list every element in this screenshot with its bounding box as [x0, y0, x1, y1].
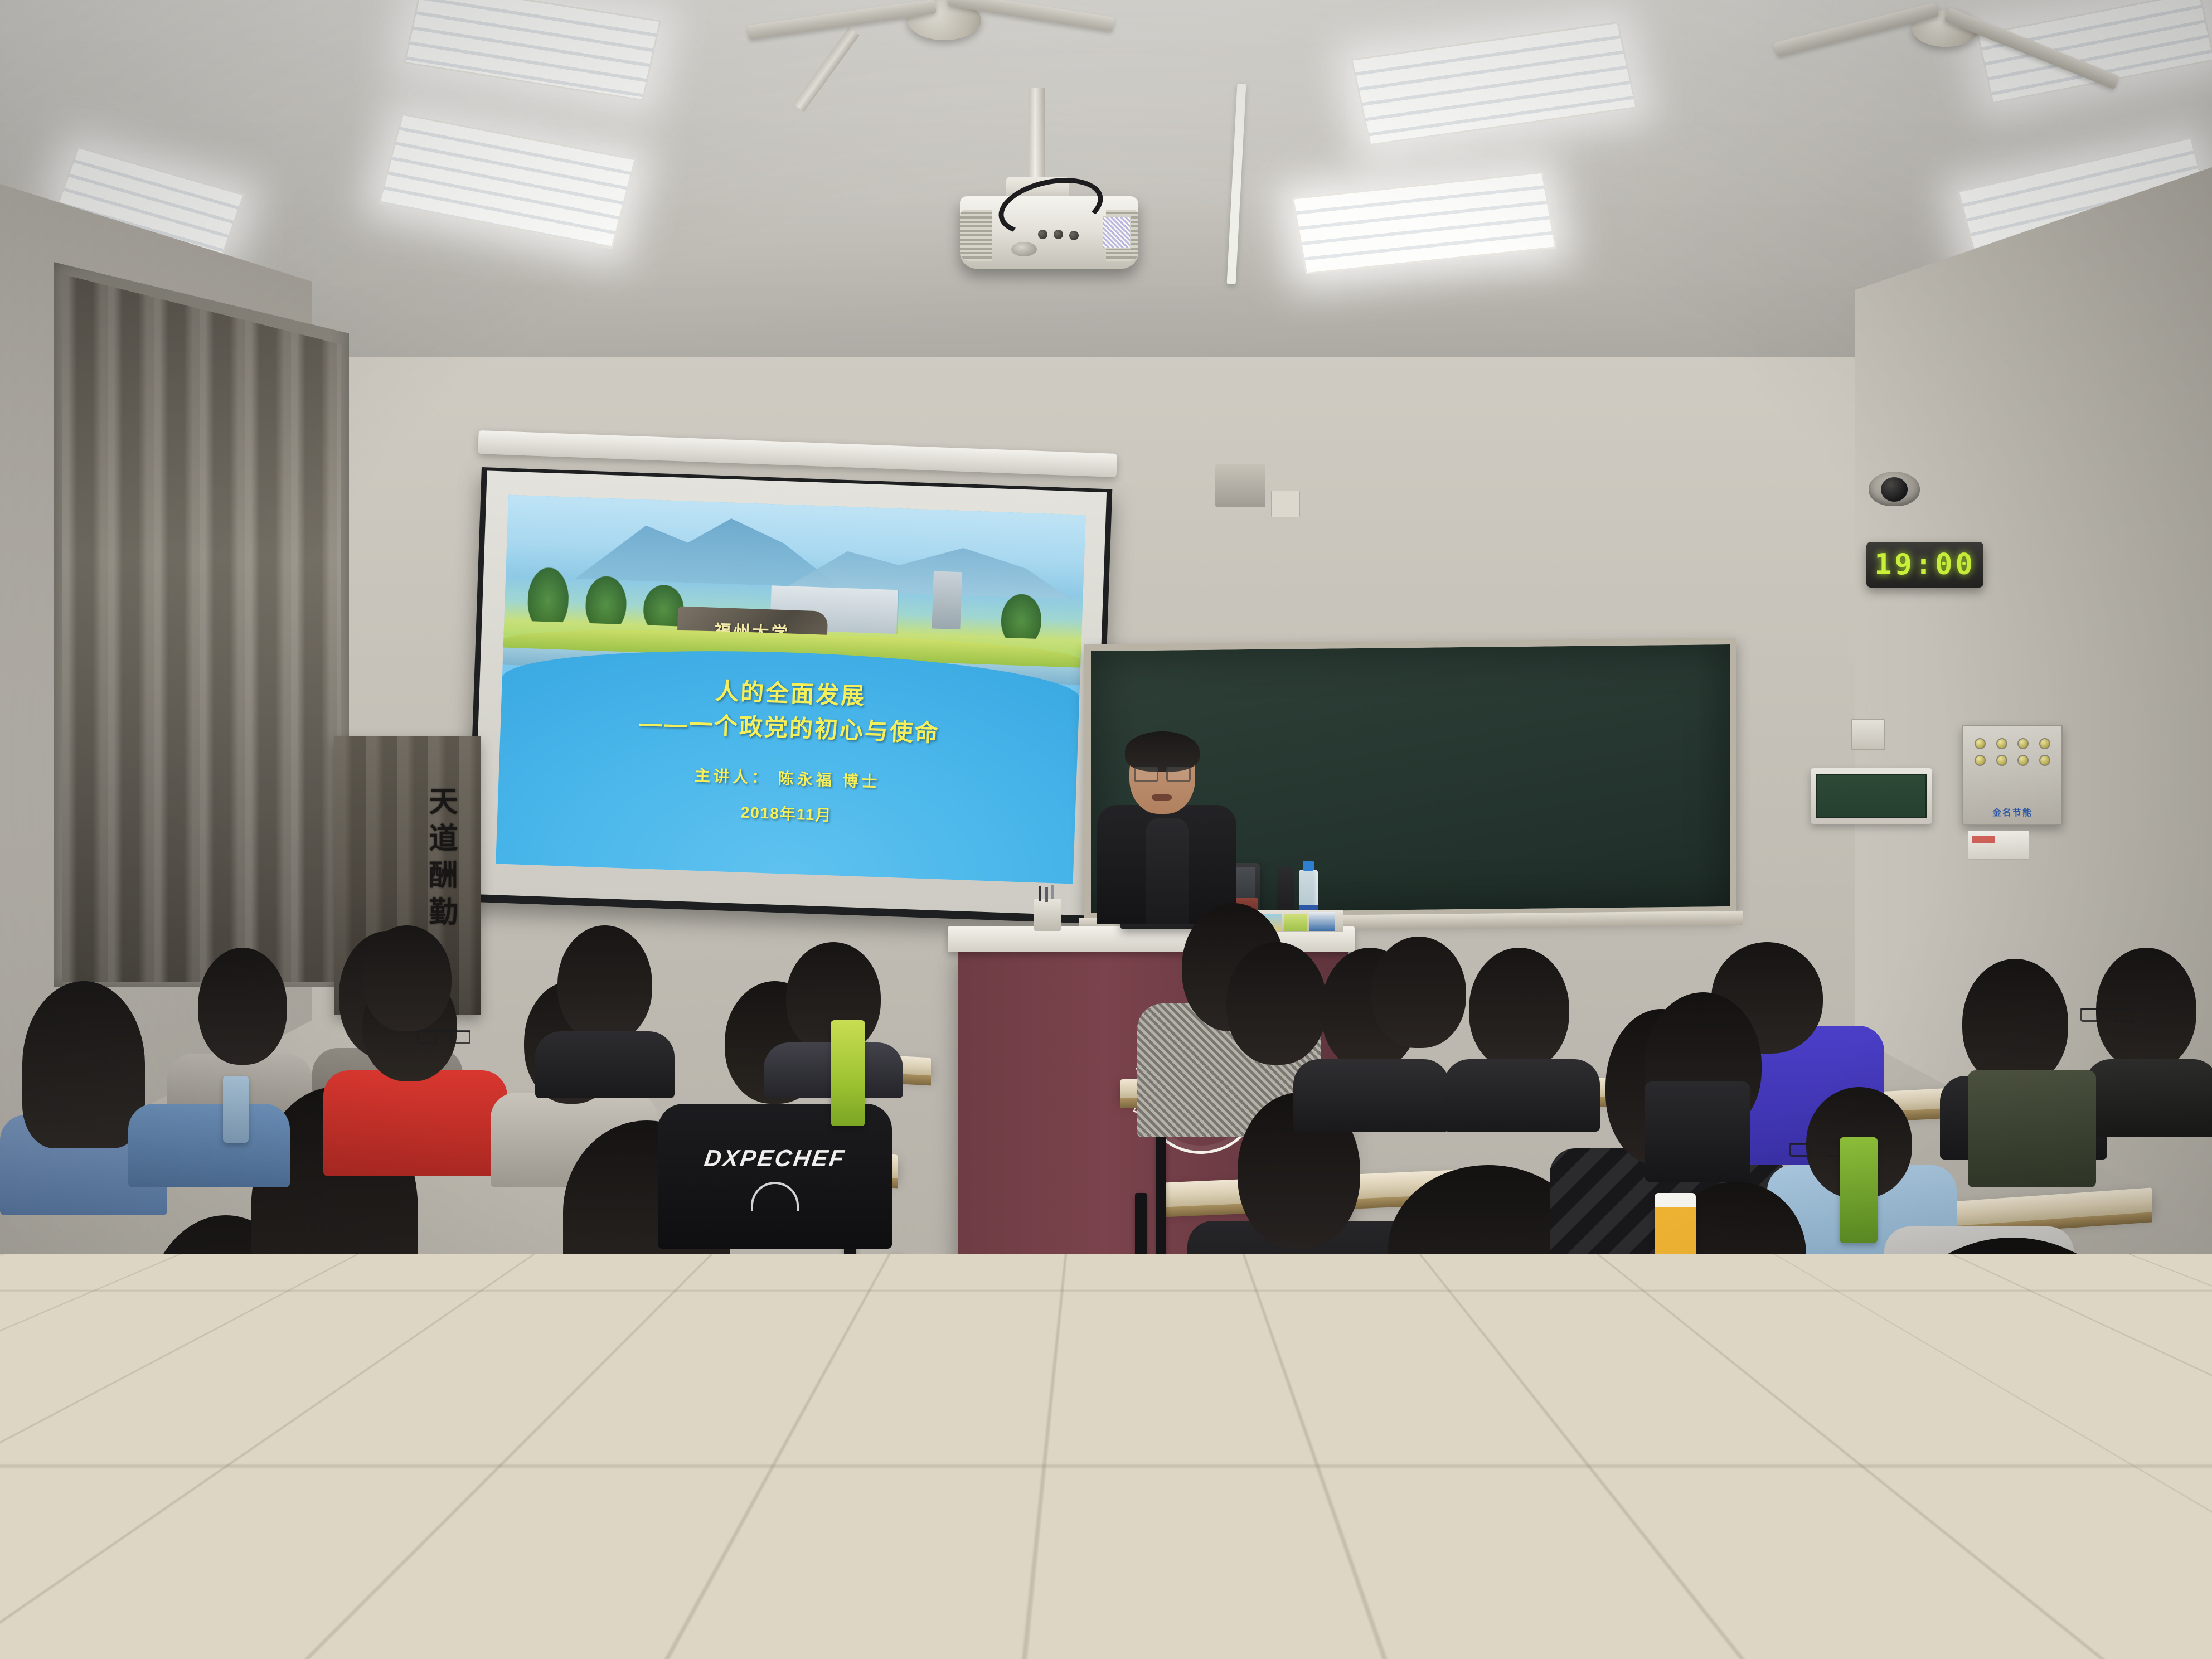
tree-shape — [527, 567, 570, 623]
wall-outlet[interactable] — [1851, 719, 1885, 750]
card-reader-panel[interactable] — [1811, 768, 1932, 824]
pen-holder — [1034, 899, 1061, 931]
student-glasses-icon — [2080, 1008, 2134, 1017]
power-control-box[interactable]: 金名节能 — [1962, 725, 2063, 825]
tree-shape — [585, 576, 627, 625]
student-head — [557, 925, 652, 1042]
desk-leg — [1135, 1193, 1147, 1416]
juice-bottle — [1655, 1193, 1696, 1316]
student-torso — [2085, 1059, 2212, 1137]
student-glasses-icon — [0, 1516, 39, 1525]
student-torso — [535, 1031, 675, 1098]
lcd-screen — [1816, 774, 1927, 818]
digital-wall-clock: 19:00 — [1866, 542, 1983, 588]
water-bottle — [831, 1020, 865, 1126]
control-knob[interactable] — [2039, 738, 2050, 749]
lecturer-mouth — [1152, 794, 1172, 801]
desk-leg — [754, 1405, 768, 1659]
lecturer — [1097, 735, 1236, 924]
control-knob[interactable] — [1996, 755, 2007, 766]
mountain-shape — [575, 507, 843, 588]
student — [948, 1349, 1104, 1659]
student — [1349, 937, 1494, 1104]
wall-notice-plate — [1271, 491, 1300, 517]
projector-vent-icon — [960, 210, 992, 261]
backpack — [1968, 1070, 2096, 1187]
campus-tower — [932, 571, 962, 629]
jacket-slogan-line4: AND NOBODY — [1243, 1550, 1756, 1574]
window-curtain — [62, 274, 341, 982]
student-head — [362, 925, 452, 1031]
control-knob[interactable] — [2039, 755, 2050, 766]
jacket-slogan-line5: SEEMS TO MIND — [1243, 1581, 1756, 1605]
wall-small-poster — [1968, 831, 2029, 860]
student — [1828, 1238, 2212, 1659]
student-head — [1879, 1238, 2146, 1500]
switch-grid — [1971, 738, 2054, 766]
jacket-brand-text: DXPECHEF — [656, 1145, 894, 1172]
control-knob[interactable] — [1996, 738, 2007, 749]
control-box-brand: 金名节能 — [1963, 805, 2061, 818]
wall-speaker — [1215, 464, 1265, 507]
book-on-desk — [669, 1494, 780, 1519]
student — [128, 998, 290, 1182]
tree-shape — [1001, 594, 1042, 639]
projector-port-icon — [1069, 231, 1079, 240]
projector-lens-icon — [1011, 242, 1037, 256]
student — [2085, 948, 2212, 1137]
security-camera-icon — [1869, 472, 1920, 506]
banner-text: 天道酬勤 — [420, 786, 462, 933]
student-torso — [128, 1104, 290, 1187]
lecture-hall-photo: 福州大学 人的全面发展 ——一个政党的初心与使命 主讲人： 陈永福 博士 201… — [0, 0, 2212, 1659]
projection-screen-surface: 福州大学 人的全面发展 ——一个政党的初心与使命 主讲人： 陈永福 博士 201… — [472, 470, 1107, 915]
presentation-slide: 福州大学 人的全面发展 ——一个政党的初心与使命 主讲人： 陈永福 博士 201… — [496, 495, 1085, 884]
jacket-slogan-line3: ALL THE TIME — [1243, 1519, 1756, 1542]
projector-label — [1103, 216, 1131, 249]
student-glasses-icon — [1789, 1143, 1845, 1152]
control-knob[interactable] — [2017, 755, 2029, 766]
student — [535, 925, 675, 1093]
water-bottle — [223, 1076, 249, 1143]
projection-screen: 福州大学 人的全面发展 ——一个政党的初心与使命 主讲人： 陈永福 博士 201… — [467, 467, 1113, 924]
student-head — [1962, 959, 2068, 1087]
student-hair — [22, 981, 145, 1148]
control-knob[interactable] — [2017, 738, 2029, 749]
chair-back — [803, 1294, 942, 1404]
student-torso — [323, 1070, 507, 1176]
control-knob[interactable] — [1975, 738, 1986, 749]
projector-mount-pole — [1029, 88, 1045, 183]
control-knob[interactable] — [1975, 755, 1986, 766]
lecturer-glasses-icon — [1134, 766, 1191, 778]
student-torso — [948, 1416, 1104, 1659]
jacket-logo-icon — [751, 1182, 799, 1211]
student-torso — [0, 1550, 256, 1659]
clock-time-display: 19:00 — [1874, 548, 1976, 581]
student-head — [1371, 937, 1466, 1048]
backpack — [1645, 1081, 1750, 1182]
student — [346, 925, 474, 1065]
